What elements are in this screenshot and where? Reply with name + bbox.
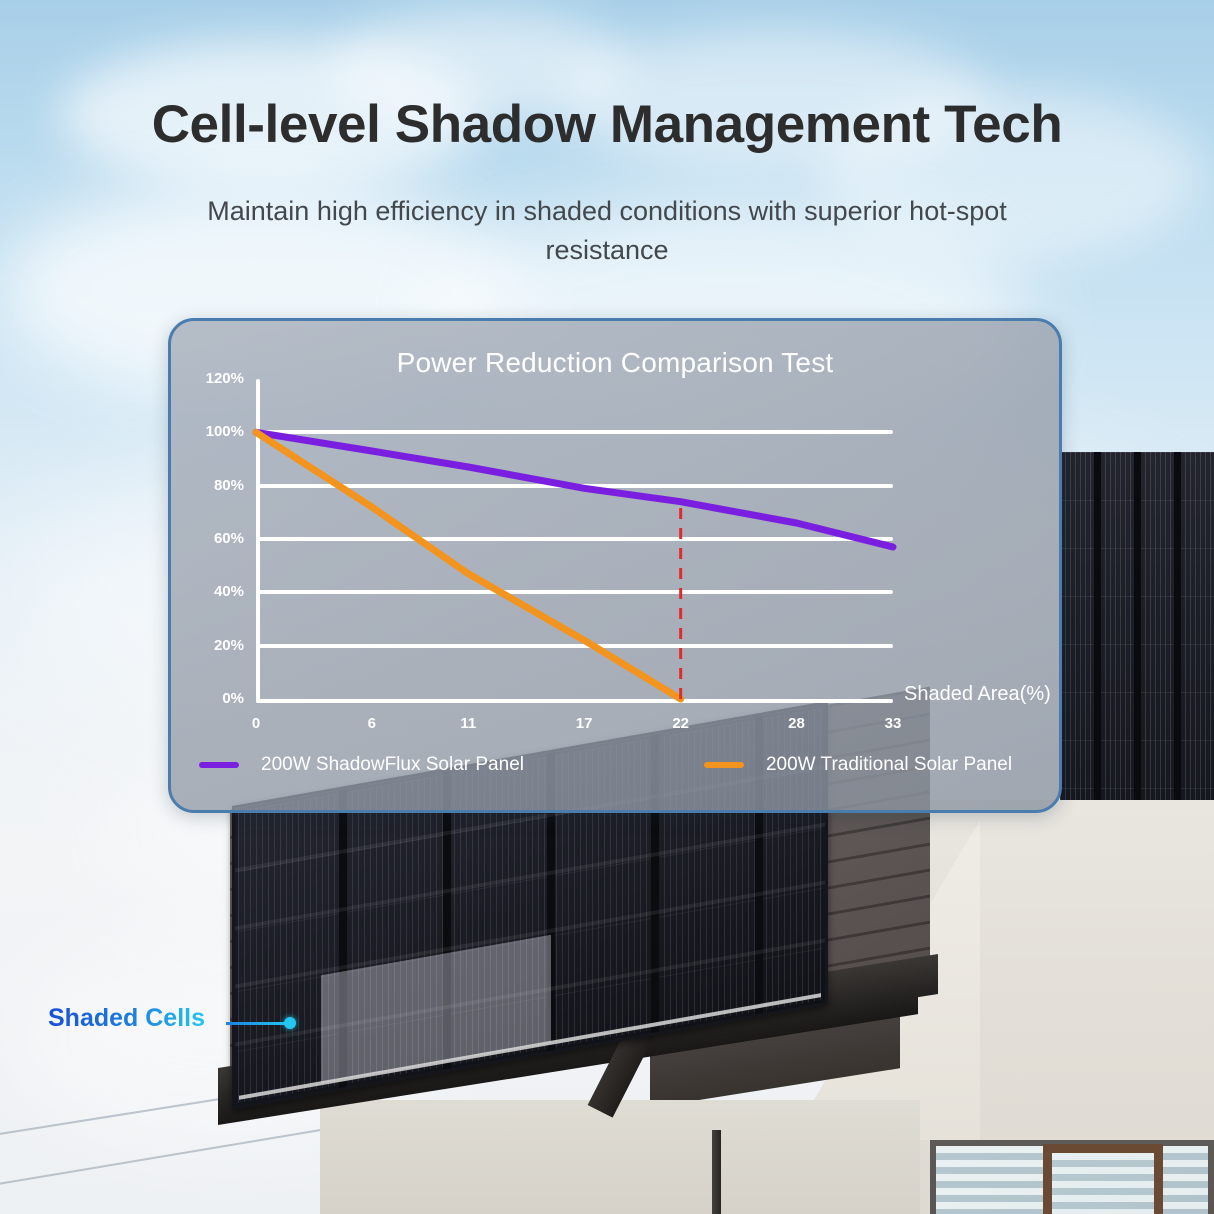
legend-item-shadowflux: 200W ShadowFlux Solar Panel xyxy=(199,754,524,776)
x-tick-label: 0 xyxy=(226,715,286,732)
page-headline: Cell-level Shadow Management Tech xyxy=(0,96,1214,153)
x-tick-label: 28 xyxy=(766,715,826,732)
legend-swatch-orange xyxy=(704,762,744,768)
y-tick-label: 40% xyxy=(168,583,244,600)
x-tick-label: 33 xyxy=(863,715,923,732)
shaded-cells-label: Shaded Cells xyxy=(48,1004,205,1032)
legend-label-shadowflux: 200W ShadowFlux Solar Panel xyxy=(261,754,524,776)
x-axis-label: Shaded Area(%) xyxy=(904,683,1051,706)
legend-swatch-purple xyxy=(199,762,239,768)
y-tick-label: 60% xyxy=(168,530,244,547)
y-tick-label: 0% xyxy=(168,690,244,707)
legend-label-traditional: 200W Traditional Solar Panel xyxy=(766,754,1012,776)
x-tick-label: 11 xyxy=(438,715,498,732)
legend-item-traditional: 200W Traditional Solar Panel xyxy=(704,754,1012,776)
callout-dot-icon xyxy=(284,1017,296,1029)
chart-legend: 200W ShadowFlux Solar Panel 200W Traditi… xyxy=(171,745,1059,785)
y-tick-label: 20% xyxy=(168,637,244,654)
house-lower-wall xyxy=(320,1100,920,1214)
y-tick-label: 120% xyxy=(168,370,244,387)
y-tick-label: 80% xyxy=(168,477,244,494)
shaded-cells-callout: Shaded Cells xyxy=(48,1004,298,1044)
chart-series-svg xyxy=(256,379,896,703)
x-tick-label: 17 xyxy=(554,715,614,732)
poster-stage: Cell-level Shadow Management Tech Mainta… xyxy=(0,0,1214,1214)
series-line-shadowflux xyxy=(256,432,893,547)
chart-card: Power Reduction Comparison Test 0%20%40%… xyxy=(168,318,1062,813)
series-line-traditional xyxy=(256,432,681,699)
glass-door xyxy=(1043,1144,1163,1214)
y-tick-label: 100% xyxy=(168,423,244,440)
callout-leader-line xyxy=(226,1022,288,1025)
downpipe xyxy=(712,1130,721,1214)
page-subheadline: Maintain high efficiency in shaded condi… xyxy=(160,192,1054,270)
chart-plot-area: 0%20%40%60%80%100%120% 061117222833 Shad… xyxy=(256,379,896,703)
x-tick-label: 22 xyxy=(651,715,711,732)
chart-title: Power Reduction Comparison Test xyxy=(171,347,1059,379)
x-tick-label: 6 xyxy=(342,715,402,732)
